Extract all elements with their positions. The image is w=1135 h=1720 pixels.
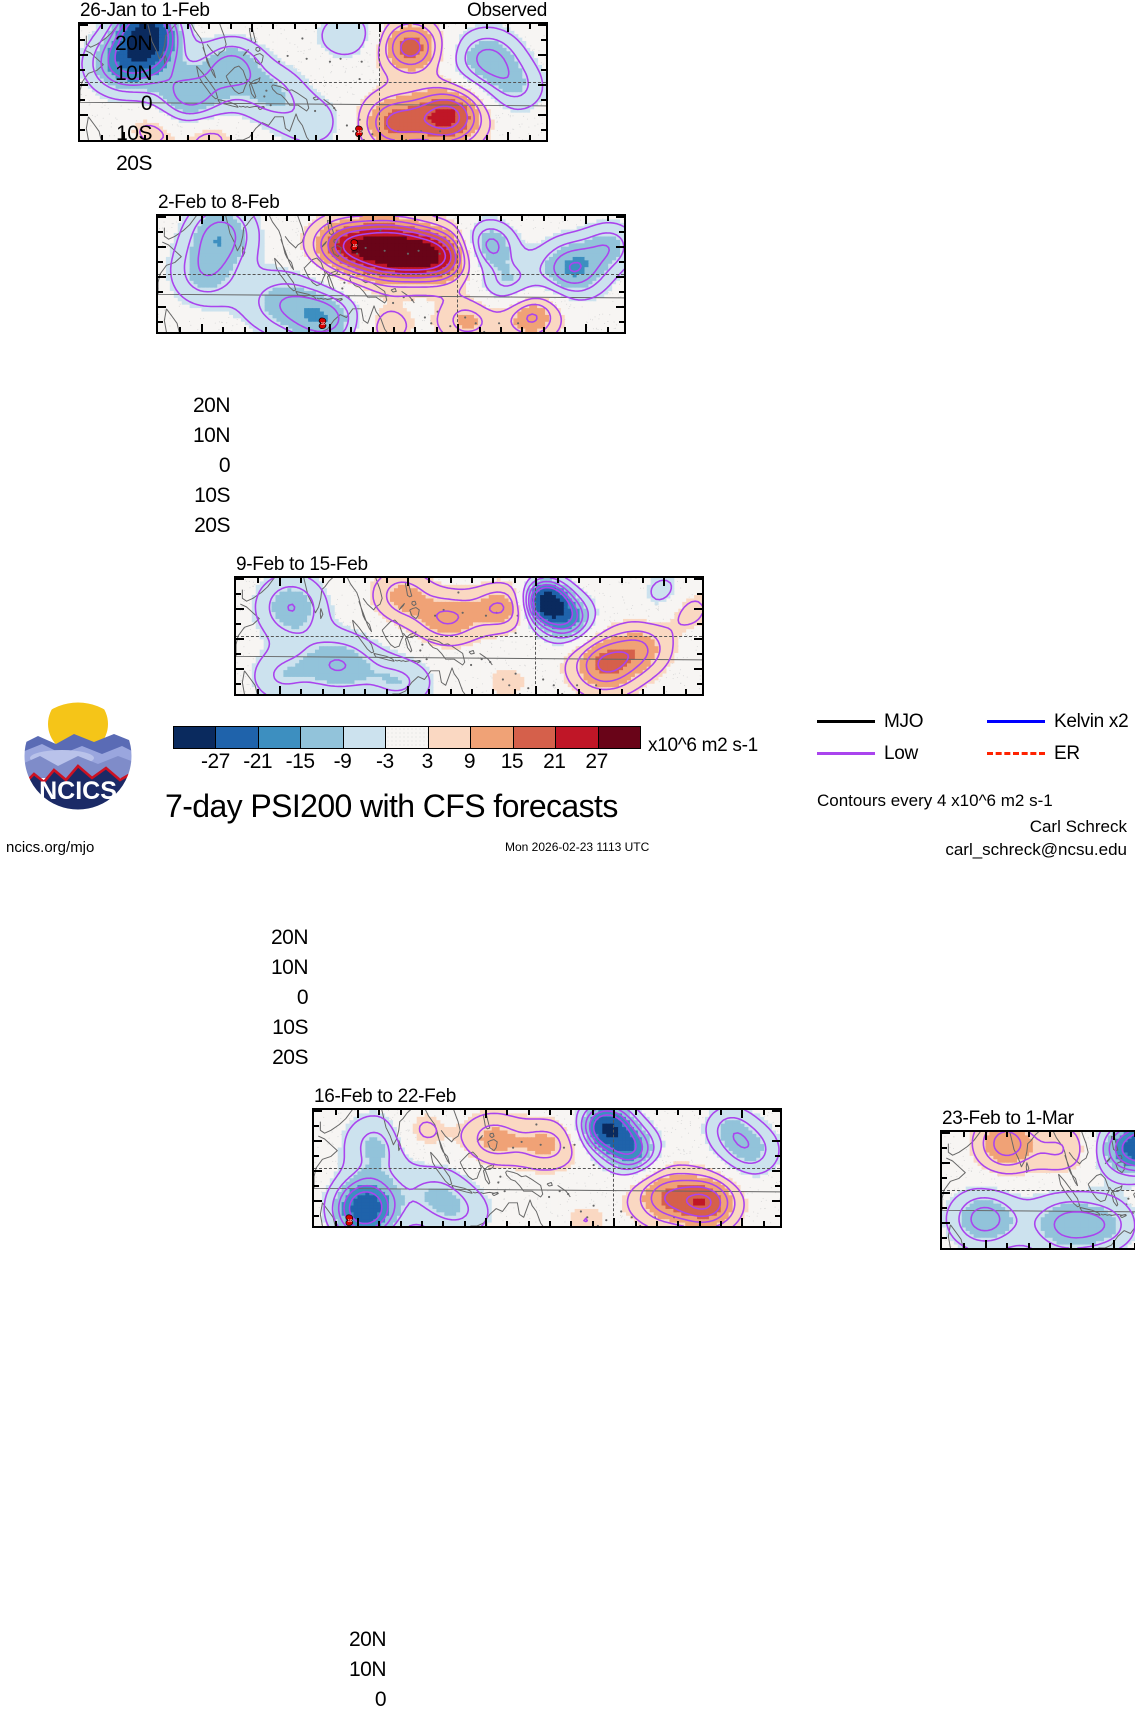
y-tick-label: 10S xyxy=(272,1017,308,1038)
x-tick xyxy=(570,1109,572,1115)
x-tick xyxy=(514,689,516,695)
x-tick xyxy=(442,1221,444,1227)
y-tick xyxy=(616,246,625,248)
x-tick xyxy=(294,23,296,29)
x-tick xyxy=(401,135,403,141)
y-tick xyxy=(157,246,166,248)
ncics-logo-graphic: NCICS xyxy=(22,700,134,812)
y-tick-label: 20S xyxy=(194,515,230,536)
x-tick xyxy=(315,135,317,141)
x-tick xyxy=(436,327,438,333)
y-tick-label: 20N xyxy=(271,927,308,948)
low-line-swatch xyxy=(817,752,875,755)
y-tick-label: 10S xyxy=(116,123,152,144)
y-tick xyxy=(616,216,625,218)
x-tick xyxy=(393,327,395,333)
x-tick xyxy=(265,327,267,333)
kelvin-line-swatch xyxy=(987,720,1045,723)
x-tick xyxy=(257,689,259,695)
x-tick xyxy=(528,1221,530,1227)
y-tick-label: 20S xyxy=(272,1047,308,1068)
colorbar-swatch-1 xyxy=(216,727,258,748)
x-tick xyxy=(208,135,210,141)
y-tick xyxy=(157,321,163,323)
colorbar-tick-label: -15 xyxy=(286,751,315,772)
figure-root: 26-Jan to 1-FebObserved1020N10N010S20S2-… xyxy=(0,0,1135,860)
x-tick xyxy=(294,135,296,141)
equator-line xyxy=(314,1168,780,1169)
y-tick xyxy=(538,114,547,116)
x-tick xyxy=(549,1221,551,1227)
x-tick xyxy=(570,1221,572,1227)
x-tick xyxy=(564,327,566,333)
x-tick xyxy=(166,135,168,141)
x-tick xyxy=(1006,1243,1008,1249)
y-axis-labels: 20N10N010S20S xyxy=(312,1640,386,1720)
x-tick xyxy=(414,327,416,333)
dateline-guide xyxy=(457,216,458,332)
colorbar-swatch-0 xyxy=(174,727,216,748)
x-tick xyxy=(486,135,488,141)
x-tick xyxy=(763,1109,765,1115)
x-tick xyxy=(607,327,609,333)
x-tick xyxy=(635,1109,637,1115)
panel-left-2[interactable]: 9-Feb to 15-Feb20N10N010S20S16-Feb to 22… xyxy=(234,576,704,696)
x-tick xyxy=(400,1109,402,1115)
legend-item-mjo: MJO xyxy=(817,712,923,731)
x-tick xyxy=(335,1221,337,1227)
y-tick xyxy=(235,623,241,625)
y-tick-label: 10N xyxy=(271,957,308,978)
equator-line xyxy=(942,1190,1135,1191)
x-tick xyxy=(443,135,445,141)
column-header: Observed xyxy=(467,1,547,20)
x-tick xyxy=(471,577,473,583)
x-tick xyxy=(123,23,125,32)
mjo-line-swatch xyxy=(817,720,875,723)
author-name: Carl Schreck xyxy=(1030,818,1127,835)
legend-label-mjo: MJO xyxy=(884,712,923,731)
panel-title: 2-Feb to 8-Feb xyxy=(158,193,279,212)
x-tick xyxy=(535,686,537,695)
x-tick xyxy=(300,689,302,695)
panel-title: 23-Feb to 1-Mar xyxy=(942,1109,1074,1128)
x-tick xyxy=(1070,1243,1072,1249)
panel-title: 16-Feb to 22-Feb xyxy=(314,1087,456,1106)
y-tick-label: 20N xyxy=(115,33,152,54)
x-tick xyxy=(166,23,168,29)
x-tick xyxy=(329,215,331,224)
x-tick xyxy=(529,135,531,141)
timestamp: Mon 2026-02-23 1113 UTC xyxy=(505,841,649,853)
x-tick xyxy=(963,1243,965,1249)
x-tick xyxy=(543,327,545,333)
x-tick xyxy=(635,1221,637,1227)
y-tick-label: 10N xyxy=(349,1659,386,1680)
y-tick-label: 10S xyxy=(194,485,230,506)
x-tick xyxy=(400,1221,402,1227)
x-tick xyxy=(985,1240,987,1249)
x-tick xyxy=(201,324,203,333)
y-tick xyxy=(697,593,703,595)
x-tick xyxy=(613,1109,615,1118)
panel-left-0[interactable]: 26-Jan to 1-FebObserved1020N10N010S20S2-… xyxy=(78,22,548,142)
x-tick xyxy=(471,689,473,695)
x-tick xyxy=(663,686,665,695)
y-tick xyxy=(694,578,703,580)
y-tick xyxy=(697,683,703,685)
x-tick xyxy=(272,135,274,141)
x-tick xyxy=(179,215,181,221)
x-tick xyxy=(549,1109,551,1115)
x-tick xyxy=(442,1109,444,1115)
panel-left-3[interactable]: 16-Feb to 22-Feb1020N10N010S20S60E120E18… xyxy=(312,1108,782,1228)
x-tick xyxy=(585,215,587,224)
x-tick xyxy=(985,1131,987,1140)
y-tick xyxy=(775,1185,781,1187)
x-tick xyxy=(407,686,409,695)
x-tick xyxy=(479,327,481,333)
x-tick xyxy=(663,577,665,586)
x-tick xyxy=(350,327,352,333)
contours-note: Contours every 4 x10^6 m2 s-1 xyxy=(817,792,1053,809)
y-tick xyxy=(619,321,625,323)
x-tick xyxy=(1049,1243,1051,1249)
x-tick xyxy=(464,1109,466,1115)
y-axis-labels: 20N10N010S20S xyxy=(78,44,152,164)
x-tick xyxy=(699,1221,701,1227)
x-tick xyxy=(1113,1240,1115,1249)
x-tick xyxy=(428,577,430,583)
y-tick xyxy=(313,1200,322,1202)
y-tick xyxy=(235,593,241,595)
x-tick xyxy=(592,1221,594,1227)
dateline-guide xyxy=(535,578,536,694)
x-tick xyxy=(685,577,687,583)
panel-title: 26-Jan to 1-Feb xyxy=(80,1,210,20)
y-tick xyxy=(313,1110,322,1112)
x-tick xyxy=(222,327,224,333)
x-tick xyxy=(179,327,181,333)
x-tick xyxy=(492,577,494,583)
x-tick xyxy=(457,215,459,224)
y-tick xyxy=(541,69,547,71)
x-tick xyxy=(350,215,352,221)
x-tick xyxy=(507,132,509,141)
x-tick xyxy=(308,215,310,221)
legend-item-kelvin: Kelvin x2 xyxy=(987,712,1128,731)
x-tick xyxy=(763,1221,765,1227)
x-tick xyxy=(642,577,644,583)
x-tick xyxy=(500,327,502,333)
x-tick xyxy=(479,215,481,221)
x-tick xyxy=(251,23,253,32)
colorbar-swatch-4 xyxy=(344,727,386,748)
x-tick xyxy=(677,1109,679,1115)
y-tick xyxy=(157,276,166,278)
x-tick xyxy=(642,689,644,695)
y-tick xyxy=(941,1132,950,1134)
colorbar-tick-label: 27 xyxy=(585,751,607,772)
map-canvas: 1010 xyxy=(158,216,624,332)
legend-label-er: ER xyxy=(1054,744,1080,763)
colorbar-swatch-3 xyxy=(301,727,343,748)
x-tick xyxy=(407,577,409,586)
y-tick xyxy=(541,129,547,131)
colorbar-swatch-10 xyxy=(599,727,640,748)
y-tick xyxy=(313,1155,319,1157)
x-tick xyxy=(486,23,488,29)
x-tick xyxy=(308,327,310,333)
y-tick-label: 0 xyxy=(297,987,308,1008)
y-tick xyxy=(697,623,703,625)
x-tick xyxy=(507,23,509,32)
x-tick xyxy=(251,132,253,141)
y-tick xyxy=(775,1155,781,1157)
x-tick xyxy=(244,327,246,333)
y-tick xyxy=(157,231,163,233)
x-tick xyxy=(599,577,601,583)
x-tick xyxy=(521,327,523,333)
y-tick xyxy=(941,1222,950,1224)
y-tick xyxy=(775,1215,781,1217)
colorbar-swatch-8 xyxy=(514,727,556,748)
svg-text:10: 10 xyxy=(357,129,362,134)
x-tick xyxy=(578,577,580,583)
x-tick xyxy=(436,215,438,221)
y-tick xyxy=(235,653,241,655)
x-tick xyxy=(1092,1131,1094,1137)
y-tick xyxy=(694,638,703,640)
x-tick xyxy=(450,577,452,583)
x-tick xyxy=(379,132,381,141)
x-tick xyxy=(201,215,203,224)
ncics-logo: NCICS xyxy=(22,700,134,812)
y-tick xyxy=(541,99,547,101)
x-tick xyxy=(656,1109,658,1115)
x-tick xyxy=(535,577,537,586)
y-tick xyxy=(235,638,244,640)
x-tick xyxy=(414,215,416,221)
x-tick xyxy=(358,23,360,29)
y-tick-label: 10N xyxy=(115,63,152,84)
x-tick xyxy=(336,135,338,141)
legend-label-kelvin: Kelvin x2 xyxy=(1054,712,1128,731)
x-tick xyxy=(457,324,459,333)
x-tick xyxy=(557,689,559,695)
panel-right-0[interactable]: 23-Feb to 1-MarCFS Forecast2-Mar to 8-Ma… xyxy=(940,1130,1135,1250)
x-tick xyxy=(1028,1243,1030,1249)
x-tick xyxy=(286,327,288,333)
colorbar-tick-label: 21 xyxy=(543,751,565,772)
x-tick xyxy=(336,23,338,29)
x-tick xyxy=(500,215,502,221)
legend-label-low: Low xyxy=(884,744,918,763)
y-tick-label: 0 xyxy=(375,1689,386,1710)
x-tick xyxy=(1113,1131,1115,1140)
x-tick xyxy=(428,689,430,695)
x-tick xyxy=(529,23,531,29)
y-tick xyxy=(313,1170,322,1172)
y-tick xyxy=(772,1110,781,1112)
equator-line xyxy=(236,636,702,637)
y-tick xyxy=(538,54,547,56)
x-tick xyxy=(585,324,587,333)
x-tick xyxy=(144,23,146,29)
x-tick xyxy=(364,577,366,583)
y-tick xyxy=(941,1192,950,1194)
x-tick xyxy=(528,1109,530,1115)
x-tick xyxy=(422,23,424,29)
x-tick xyxy=(1092,1243,1094,1249)
x-tick xyxy=(421,1109,423,1115)
x-tick xyxy=(485,1109,487,1118)
y-tick xyxy=(235,683,241,685)
y-tick xyxy=(694,668,703,670)
y-tick xyxy=(697,653,703,655)
x-tick xyxy=(720,1109,722,1115)
colorbar-swatch-2 xyxy=(259,727,301,748)
x-tick xyxy=(335,1109,337,1115)
x-tick xyxy=(521,215,523,221)
ncics-logo-text: NCICS xyxy=(39,777,117,805)
y-tick xyxy=(775,1125,781,1127)
x-tick xyxy=(244,215,246,221)
x-tick xyxy=(279,686,281,695)
x-tick xyxy=(322,577,324,583)
x-tick xyxy=(699,1109,701,1115)
x-tick xyxy=(364,689,366,695)
map-canvas: 10 xyxy=(314,1110,780,1226)
author-email: carl_schreck@ncsu.edu xyxy=(945,841,1127,858)
y-tick xyxy=(941,1177,947,1179)
legend-item-low: Low xyxy=(817,744,918,763)
x-tick xyxy=(506,1109,508,1115)
x-tick xyxy=(315,23,317,29)
site-url: ncics.org/mjo xyxy=(6,840,94,855)
y-tick xyxy=(157,261,163,263)
y-tick xyxy=(157,291,163,293)
er-line-swatch xyxy=(987,752,1045,755)
colorbar-swatch-9 xyxy=(556,727,598,748)
x-tick xyxy=(543,215,545,221)
x-tick xyxy=(187,23,189,29)
y-tick xyxy=(616,306,625,308)
x-tick xyxy=(1028,1131,1030,1137)
x-tick xyxy=(592,1109,594,1115)
y-tick-label: 0 xyxy=(219,455,230,476)
y-tick xyxy=(772,1140,781,1142)
x-tick xyxy=(343,689,345,695)
panel-left-1[interactable]: 2-Feb to 8-Feb101020N10N010S20S9-Feb to … xyxy=(156,214,626,334)
x-tick xyxy=(621,689,623,695)
y-tick xyxy=(157,216,166,218)
x-tick xyxy=(208,23,210,29)
y-tick xyxy=(235,668,244,670)
map-frame xyxy=(234,576,704,696)
x-tick xyxy=(557,577,559,583)
y-tick xyxy=(79,39,85,41)
x-tick xyxy=(514,577,516,583)
y-tick xyxy=(694,608,703,610)
x-tick xyxy=(386,577,388,583)
y-tick xyxy=(538,84,547,86)
y-tick-label: 0 xyxy=(141,93,152,114)
dateline-guide xyxy=(379,24,380,140)
x-tick xyxy=(279,577,281,586)
y-tick xyxy=(772,1200,781,1202)
x-tick xyxy=(621,577,623,583)
colorbar-tick-label: -9 xyxy=(334,751,352,772)
x-tick xyxy=(599,689,601,695)
map-canvas xyxy=(236,578,702,694)
x-tick xyxy=(656,1221,658,1227)
x-tick xyxy=(677,1221,679,1227)
y-tick xyxy=(79,24,88,26)
x-tick xyxy=(187,135,189,141)
y-tick-label: 20N xyxy=(193,395,230,416)
x-tick xyxy=(230,135,232,141)
y-tick xyxy=(941,1237,947,1239)
colorbar-tick-label: 15 xyxy=(501,751,523,772)
colorbar-tick-label: 9 xyxy=(464,751,475,772)
x-tick xyxy=(257,577,259,583)
x-tick xyxy=(506,1221,508,1227)
x-tick xyxy=(741,1109,743,1118)
y-tick xyxy=(541,39,547,41)
y-tick xyxy=(235,578,244,580)
x-tick xyxy=(1006,1131,1008,1137)
colorbar-swatch-6 xyxy=(429,727,471,748)
x-tick xyxy=(378,1221,380,1227)
x-tick xyxy=(578,689,580,695)
y-tick xyxy=(619,231,625,233)
x-tick xyxy=(963,1131,965,1137)
y-tick xyxy=(772,1170,781,1172)
main-title: 7-day PSI200 with CFS forecasts xyxy=(165,790,618,822)
colorbar-tick-label: -21 xyxy=(243,751,272,772)
x-tick xyxy=(300,577,302,583)
colorbar-tick-label: 3 xyxy=(422,751,433,772)
colorbar-tick-label: -3 xyxy=(376,751,394,772)
x-tick xyxy=(564,215,566,221)
x-tick xyxy=(720,1221,722,1227)
y-tick-label: 20N xyxy=(349,1629,386,1650)
y-tick xyxy=(235,608,244,610)
panel-title: 9-Feb to 15-Feb xyxy=(236,555,368,574)
y-tick-label: 10N xyxy=(193,425,230,446)
x-tick xyxy=(286,215,288,221)
x-tick xyxy=(230,23,232,29)
x-tick xyxy=(372,215,374,221)
x-tick xyxy=(464,1221,466,1227)
x-tick xyxy=(1049,1131,1051,1137)
x-tick xyxy=(685,689,687,695)
x-tick xyxy=(1070,1131,1072,1137)
x-tick xyxy=(358,135,360,141)
x-tick xyxy=(422,135,424,141)
x-tick xyxy=(101,23,103,29)
x-tick xyxy=(421,1221,423,1227)
y-tick xyxy=(941,1207,947,1209)
y-tick xyxy=(616,276,625,278)
line-legend: MJO Kelvin x2 Low ER xyxy=(817,712,1135,772)
x-tick xyxy=(372,327,374,333)
colorbar-swatch-7 xyxy=(471,727,513,748)
dateline-guide xyxy=(613,1110,614,1226)
colorbar[interactable] xyxy=(173,726,641,749)
map-frame: 1010 xyxy=(156,214,626,334)
